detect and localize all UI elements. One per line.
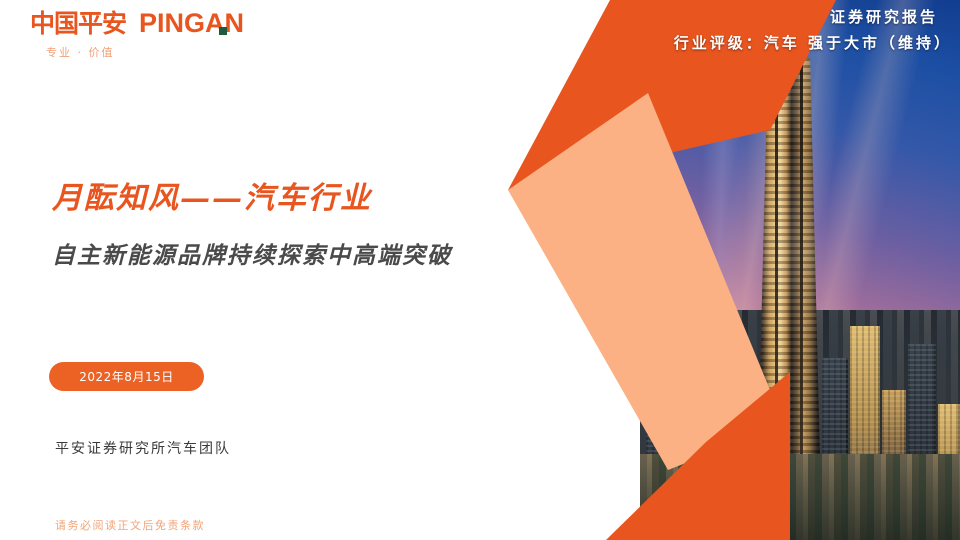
logo-chinese-wordmark: 中国平安 xyxy=(30,11,126,36)
tower-edge-right xyxy=(800,58,803,460)
report-type-label: 证券研究报告 xyxy=(674,6,952,27)
tower-edge-left xyxy=(775,58,778,460)
page-title: 月酝知风——汽车行业 xyxy=(52,173,372,217)
industry-rating-label: 行业评级：汽车 强于大市（维持） xyxy=(674,32,952,53)
publication-date-badge: 2022年8月15日 xyxy=(49,362,204,391)
ping-an-logo: 中国平安 PINGAN 专业 · 价值 xyxy=(30,10,244,60)
page-subtitle: 自主新能源品牌持续探索中高端突破 xyxy=(52,236,452,270)
logo-english-text: PINGAN xyxy=(139,8,244,38)
author-team-label: 平安证券研究所汽车团队 xyxy=(55,438,231,458)
cover-photo-shenzhen-skyline xyxy=(640,0,960,540)
logo-english-wordmark: PINGAN xyxy=(139,10,244,37)
logo-green-square-icon xyxy=(219,27,227,35)
report-header: 证券研究报告 行业评级：汽车 强于大市（维持） xyxy=(674,6,952,53)
ping-an-finance-center-tower xyxy=(758,28,820,460)
tower-shaft xyxy=(758,58,820,460)
logo-tagline: 专业 · 价值 xyxy=(46,44,244,60)
foreground-ground xyxy=(640,454,960,540)
presentation-slide: 中国平安 PINGAN 专业 · 价值 证券研究报告 行业评级：汽车 强于大市（… xyxy=(0,0,960,540)
disclaimer-notice: 请务必阅读正文后免责条款 xyxy=(55,517,205,533)
